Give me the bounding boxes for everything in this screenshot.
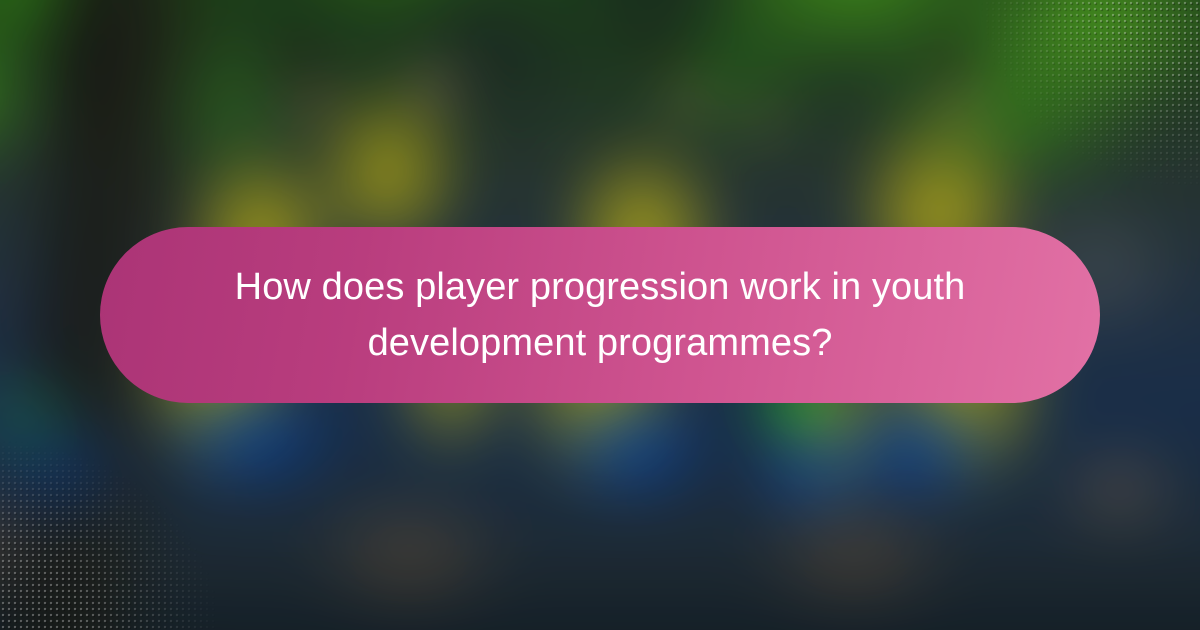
- question-text: How does player progression work in yout…: [220, 259, 980, 371]
- canvas: How does player progression work in yout…: [0, 0, 1200, 630]
- question-pill: How does player progression work in yout…: [100, 227, 1100, 403]
